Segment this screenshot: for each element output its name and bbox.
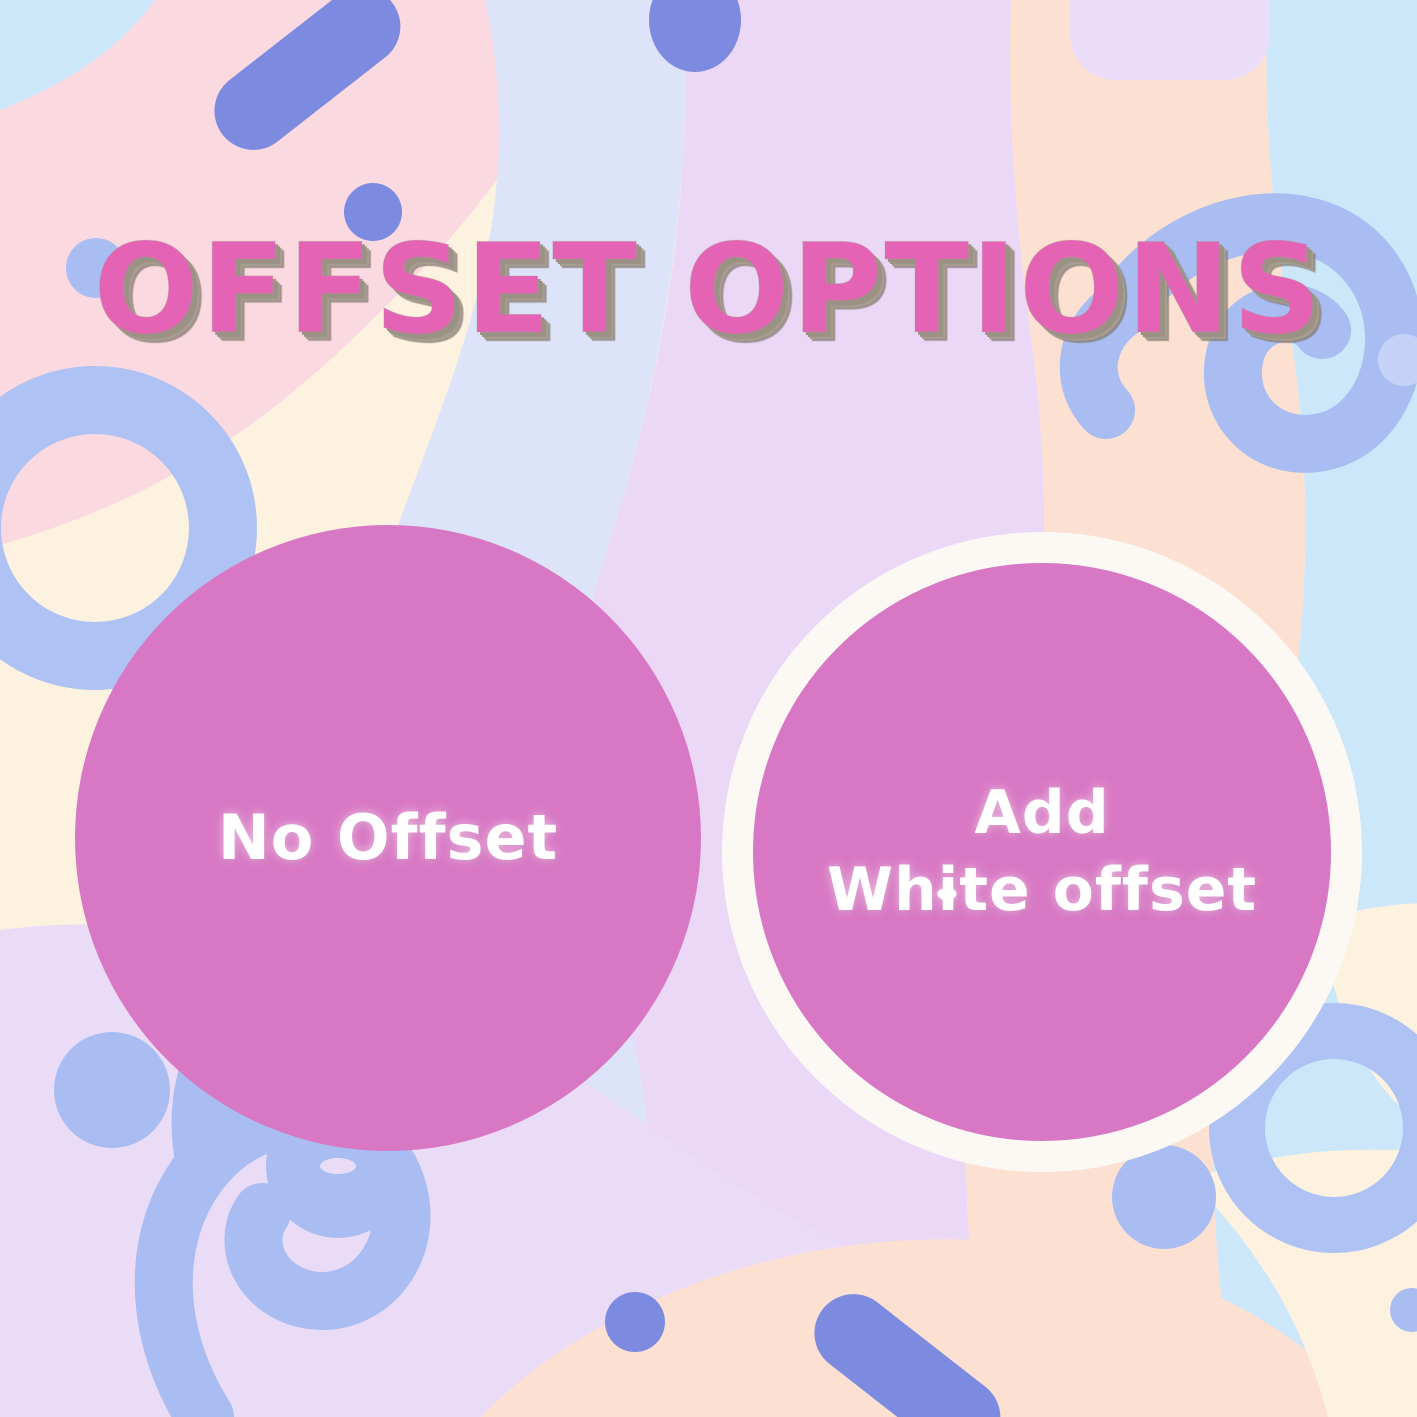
dot-shape-bottom-right [1112,1145,1216,1249]
option-circle-no-offset[interactable]: No Offset [75,525,701,1151]
highlight-shape-bottom-left [320,1158,356,1174]
option-circle-white-offset[interactable]: Add White offset ❤ [722,532,1362,1172]
option-label-no-offset: No Offset [200,798,576,877]
page-title: OFFSET OPTIONS [0,225,1417,355]
option-label-white-offset: Add White offset [809,775,1275,929]
dot-shape-bottom-right-small [1390,1288,1417,1332]
pill-shape-top [199,0,416,166]
pill-shape-bottom [799,1278,1016,1417]
blob-shape-top-center [649,0,741,72]
dot-shape-left-lower [54,1032,170,1148]
dot-shape-bottom-center [605,1292,665,1352]
poster-canvas: OFFSET OPTIONS No Offset Add White offse… [0,0,1417,1417]
